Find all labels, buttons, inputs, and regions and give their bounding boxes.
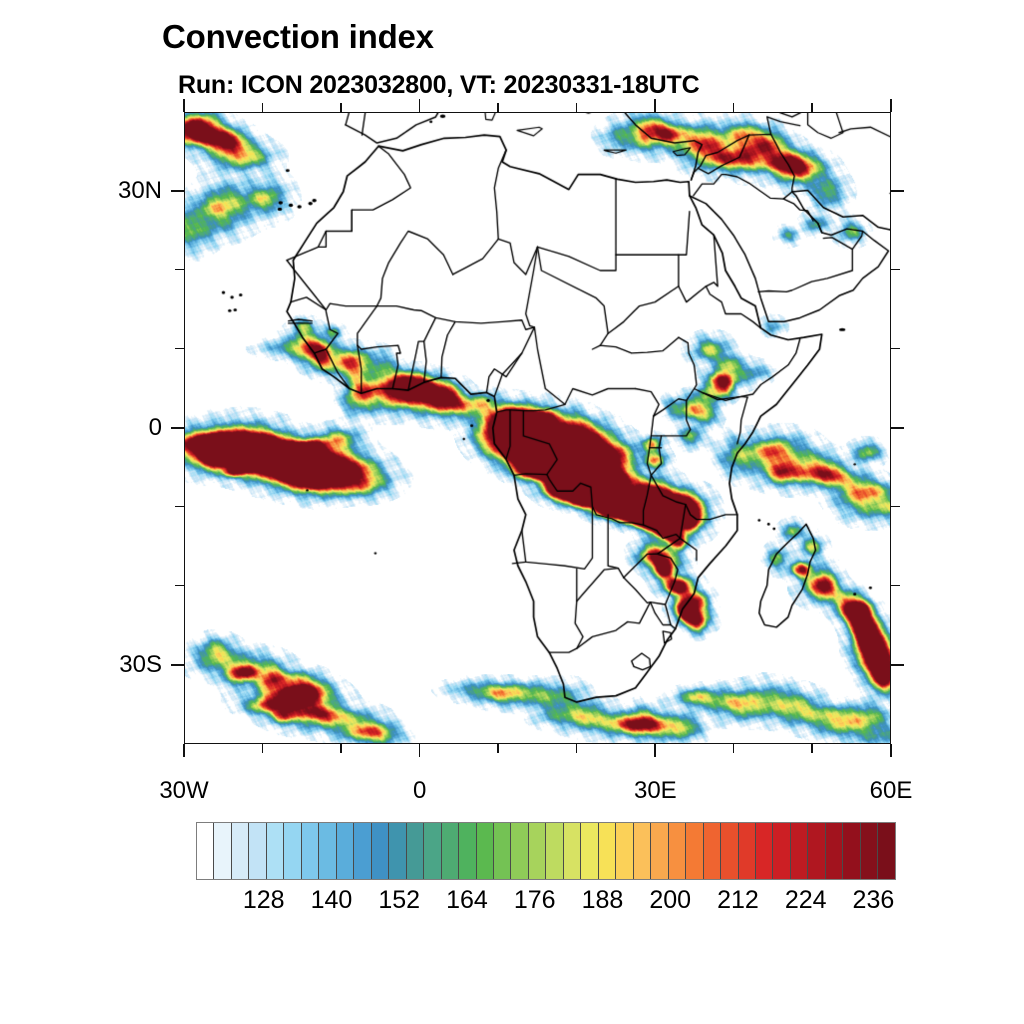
colorbar-cell-37 xyxy=(843,823,860,879)
ytick-minor-10 xyxy=(175,348,184,349)
colorbar-cell-11 xyxy=(389,823,406,879)
colorbar-tick-236: 236 xyxy=(853,886,895,915)
colorbar-cells xyxy=(196,822,896,880)
colorbar-tick-164: 164 xyxy=(446,886,488,915)
figure-canvas: Convection index Run: ICON 2023032800, V… xyxy=(0,0,1024,1024)
xlabel-60E: 60E xyxy=(870,777,913,805)
colorbar xyxy=(196,822,896,880)
colorbar-cell-38 xyxy=(861,823,878,879)
ytick-minor-r-20 xyxy=(891,269,900,270)
xtick-minor-40 xyxy=(733,744,734,753)
xtick-major-30 xyxy=(654,744,656,757)
xtick-minor-10 xyxy=(497,744,498,753)
xtick-major--30 xyxy=(183,744,185,757)
xtick-major-t-30 xyxy=(654,99,656,112)
xtick-minor--10 xyxy=(340,744,341,753)
ylabel-30S: 30S xyxy=(74,651,162,679)
colorbar-cell-6 xyxy=(302,823,319,879)
map-plot-area xyxy=(184,112,891,744)
colorbar-cell-20 xyxy=(546,823,563,879)
colorbar-cell-0 xyxy=(197,823,214,879)
colorbar-cell-12 xyxy=(407,823,424,879)
colorbar-cell-22 xyxy=(581,823,598,879)
ytick-minor-r--20 xyxy=(891,585,900,586)
colorbar-cell-15 xyxy=(459,823,476,879)
colorbar-cell-7 xyxy=(319,823,336,879)
xtick-minor--20 xyxy=(262,744,263,753)
colorbar-cell-28 xyxy=(686,823,703,879)
xtick-major-t-60 xyxy=(890,99,892,112)
xtick-minor-t--10 xyxy=(340,103,341,112)
colorbar-cell-32 xyxy=(756,823,773,879)
xtick-minor-20 xyxy=(576,744,577,753)
ytick-minor-r--10 xyxy=(891,506,900,507)
xlabel-0: 0 xyxy=(413,777,426,805)
ytick-minor-r-10 xyxy=(891,348,900,349)
xlabel-30E: 30E xyxy=(634,777,677,805)
colorbar-cell-23 xyxy=(599,823,616,879)
ylabel-0: 0 xyxy=(74,414,162,442)
xtick-major-60 xyxy=(890,744,892,757)
xtick-minor-50 xyxy=(811,744,812,753)
colorbar-cell-3 xyxy=(249,823,266,879)
ytick-major-r-0 xyxy=(891,427,904,429)
colorbar-cell-21 xyxy=(564,823,581,879)
colorbar-cell-18 xyxy=(511,823,528,879)
colorbar-cell-9 xyxy=(354,823,371,879)
colorbar-cell-36 xyxy=(826,823,843,879)
colorbar-cell-34 xyxy=(791,823,808,879)
colorbar-cell-39 xyxy=(878,823,894,879)
colorbar-cell-29 xyxy=(704,823,721,879)
xtick-minor-t-50 xyxy=(811,103,812,112)
ytick-major-r--30 xyxy=(891,664,904,666)
colorbar-cell-25 xyxy=(634,823,651,879)
xtick-minor-t-10 xyxy=(497,103,498,112)
page-subtitle: Run: ICON 2023032800, VT: 20230331-18UTC xyxy=(178,71,978,100)
xtick-major-t-0 xyxy=(419,99,421,112)
ytick-major-30 xyxy=(171,190,184,192)
xtick-minor-t-20 xyxy=(576,103,577,112)
colorbar-cell-1 xyxy=(214,823,231,879)
colorbar-tick-152: 152 xyxy=(378,886,420,915)
colorbar-cell-8 xyxy=(337,823,354,879)
colorbar-tick-128: 128 xyxy=(243,886,285,915)
colorbar-cell-19 xyxy=(529,823,546,879)
xtick-major-t--30 xyxy=(183,99,185,112)
ytick-major-r-30 xyxy=(891,190,904,192)
colorbar-cell-5 xyxy=(284,823,301,879)
colorbar-cell-2 xyxy=(232,823,249,879)
colorbar-cell-35 xyxy=(808,823,825,879)
colorbar-tick-140: 140 xyxy=(311,886,353,915)
ylabel-30N: 30N xyxy=(74,177,162,205)
colorbar-tick-176: 176 xyxy=(514,886,556,915)
colorbar-cell-13 xyxy=(424,823,441,879)
colorbar-cell-14 xyxy=(442,823,459,879)
map-raster xyxy=(185,113,890,743)
colorbar-cell-17 xyxy=(494,823,511,879)
colorbar-cell-31 xyxy=(739,823,756,879)
colorbar-cell-33 xyxy=(773,823,790,879)
ytick-major--30 xyxy=(171,664,184,666)
ytick-major-0 xyxy=(171,427,184,429)
ytick-minor-20 xyxy=(175,269,184,270)
xtick-minor-t-40 xyxy=(733,103,734,112)
xtick-minor-t--20 xyxy=(262,103,263,112)
xlabel-30W: 30W xyxy=(159,777,208,805)
colorbar-tick-212: 212 xyxy=(717,886,759,915)
ytick-minor--10 xyxy=(175,506,184,507)
colorbar-cell-10 xyxy=(372,823,389,879)
colorbar-tick-200: 200 xyxy=(649,886,691,915)
colorbar-cell-4 xyxy=(267,823,284,879)
colorbar-cell-24 xyxy=(616,823,633,879)
colorbar-tick-224: 224 xyxy=(785,886,827,915)
colorbar-cell-26 xyxy=(651,823,668,879)
colorbar-cell-27 xyxy=(669,823,686,879)
ytick-minor--20 xyxy=(175,585,184,586)
colorbar-cell-30 xyxy=(721,823,738,879)
xtick-major-0 xyxy=(419,744,421,757)
colorbar-tick-188: 188 xyxy=(582,886,624,915)
colorbar-cell-16 xyxy=(477,823,494,879)
page-title: Convection index xyxy=(162,18,962,56)
